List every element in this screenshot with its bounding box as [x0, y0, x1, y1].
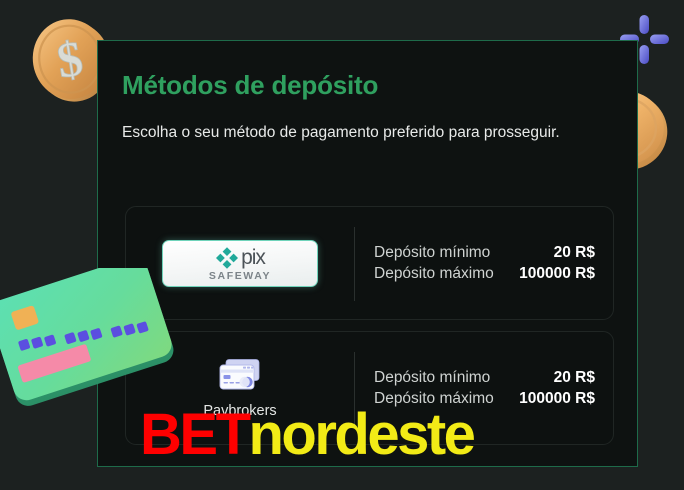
page-title: Métodos de depósito	[122, 70, 378, 101]
page-subtitle: Escolha o seu método de pagamento prefer…	[122, 119, 574, 146]
svg-text:$: $	[53, 30, 86, 89]
pix-diamond-icon	[215, 246, 239, 270]
amount-value: 20 R$	[554, 244, 595, 262]
pix-safeway-sublabel: SAFEWAY	[209, 270, 271, 282]
amount-label: Depósito mínimo	[374, 369, 490, 387]
pix-amount-list: Depósito mínimo 20 R$ Depósito máximo 10…	[374, 207, 595, 319]
amount-row-min: Depósito mínimo 20 R$	[374, 369, 595, 387]
payment-method-pix-safeway[interactable]: pix SAFEWAY Depósito mínimo 20 R$ Depósi…	[125, 206, 614, 320]
brand-watermark: BETnordeste	[140, 406, 473, 464]
watermark-nordeste: nordeste	[249, 402, 474, 467]
method-divider	[354, 227, 355, 301]
amount-value: 100000 R$	[519, 265, 595, 283]
pix-safeway-logo: pix SAFEWAY	[162, 240, 318, 287]
amount-value: 20 R$	[554, 369, 595, 387]
amount-row-max: Depósito máximo 100000 R$	[374, 265, 595, 283]
pix-wordmark: pix	[241, 248, 265, 268]
credit-card-icon	[217, 358, 263, 394]
amount-label: Depósito máximo	[374, 265, 494, 283]
amount-value: 100000 R$	[519, 390, 595, 408]
amount-row-min: Depósito mínimo 20 R$	[374, 244, 595, 262]
pix-mark-row: pix	[215, 247, 265, 269]
watermark-bet: BET	[140, 402, 249, 467]
amount-label: Depósito mínimo	[374, 244, 490, 262]
pix-logo-zone: pix SAFEWAY	[126, 207, 354, 319]
